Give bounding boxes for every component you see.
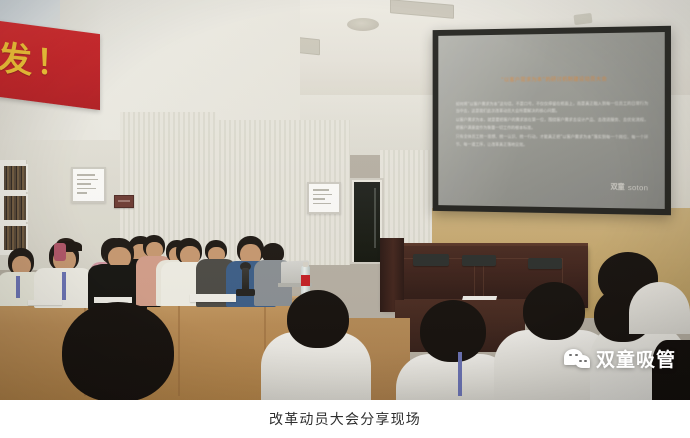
red-banner: 发！ (0, 20, 100, 110)
ceiling-light-dome (347, 18, 379, 31)
podium-microphone-left (413, 254, 449, 266)
slide-logo-mark: 双童 (610, 182, 624, 192)
screen-glare (438, 32, 588, 209)
door-panel (354, 182, 380, 262)
wall-notice-sign-left (71, 167, 106, 203)
photo-caption: 改革动员大会分享现场 (269, 409, 421, 429)
slide-logo-word: soton (628, 183, 648, 192)
banner-text: 发！ (0, 28, 94, 99)
caption-bar: 改革动员大会分享现场 (0, 400, 690, 438)
podium-microphone-mid (462, 255, 496, 266)
screen-surface: “以客户需求为本”的研讨机制建设动员大会 如何将“以客户需求为本”这句话，不是口… (438, 32, 664, 209)
doorway (350, 178, 384, 264)
notebook (190, 294, 236, 302)
notebook (28, 300, 62, 305)
microphone-stand (236, 289, 255, 296)
projection-screen: “以客户需求为本”的研讨机制建设动员大会 如何将“以客户需求为本”这句话，不是口… (433, 26, 671, 215)
bookshelf (0, 160, 27, 255)
image-page: 发！ “以客户需求为本”的研讨机制建设动员大会 (0, 0, 690, 438)
wall-plaque (114, 195, 134, 208)
slide-logo: 双童 soton (610, 182, 648, 193)
podium-microphone-right (528, 258, 562, 269)
meeting-photo: 发！ “以客户需求为本”的研讨机制建设动员大会 (0, 0, 690, 400)
wechat-icon (564, 349, 590, 369)
wall-notice-sign-mid (307, 182, 341, 214)
watermark-account-name: 双童吸管 (596, 345, 676, 372)
watermark: 双童吸管 (564, 345, 676, 372)
